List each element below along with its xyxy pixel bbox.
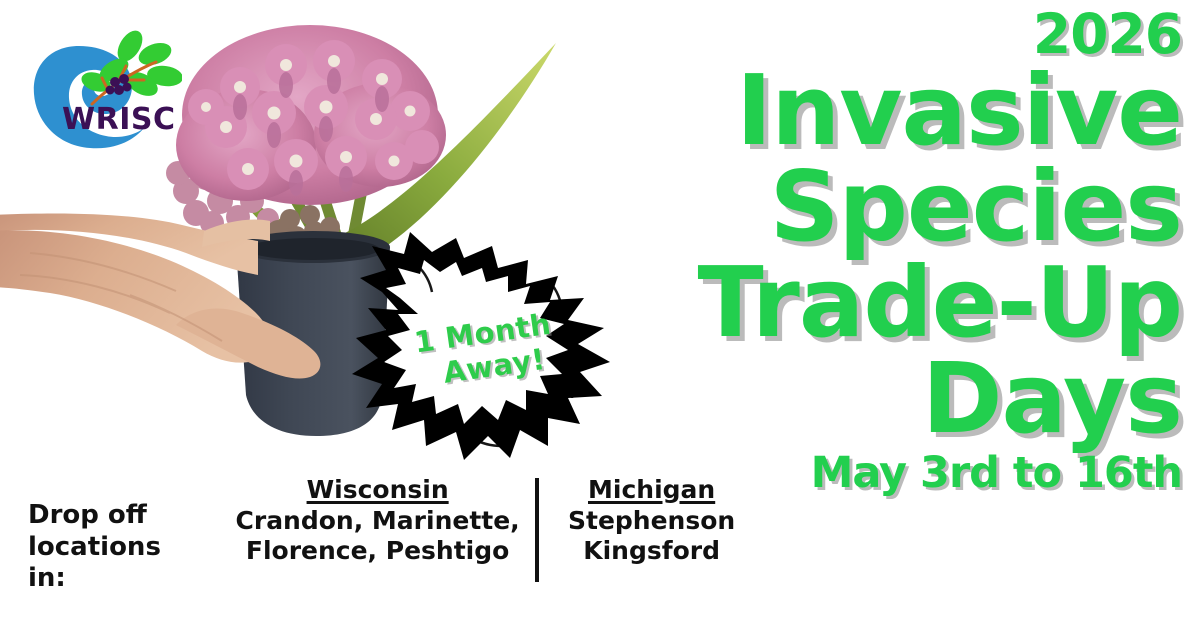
headline-line-4: Days bbox=[582, 351, 1182, 447]
location-state-wisconsin: Wisconsin bbox=[230, 476, 525, 504]
column-divider bbox=[535, 478, 539, 582]
headline-line-1: Invasive bbox=[582, 63, 1182, 159]
dropoff-label-line-1: Drop off bbox=[28, 500, 198, 532]
location-column-wisconsin: Wisconsin Crandon, Marinette, Florence, … bbox=[230, 476, 525, 566]
location-cities-wisconsin-line-2: Florence, Peshtigo bbox=[230, 536, 525, 566]
dropoff-label-line-2: locations in: bbox=[28, 532, 198, 595]
location-cities-wisconsin-line-1: Crandon, Marinette, bbox=[230, 506, 525, 536]
dropoff-label: Drop off locations in: bbox=[28, 500, 198, 595]
headline-line-2: Species bbox=[582, 159, 1182, 255]
location-cities-michigan-line-1: Stephenson bbox=[553, 506, 750, 536]
headline-line-3: Trade-Up bbox=[582, 255, 1182, 351]
countdown-badge: 1 Month Away! bbox=[352, 232, 618, 468]
location-cities-michigan-line-2: Kingsford bbox=[553, 536, 750, 566]
locations-block: Wisconsin Crandon, Marinette, Florence, … bbox=[230, 476, 750, 582]
headline-year: 2026 bbox=[582, 8, 1182, 61]
location-column-michigan: Michigan Stephenson Kingsford bbox=[553, 476, 750, 566]
location-state-michigan: Michigan bbox=[553, 476, 750, 504]
headline-block: 2026 Invasive Species Trade-Up Days May … bbox=[582, 8, 1182, 496]
poster-canvas: WRISC bbox=[0, 0, 1200, 630]
